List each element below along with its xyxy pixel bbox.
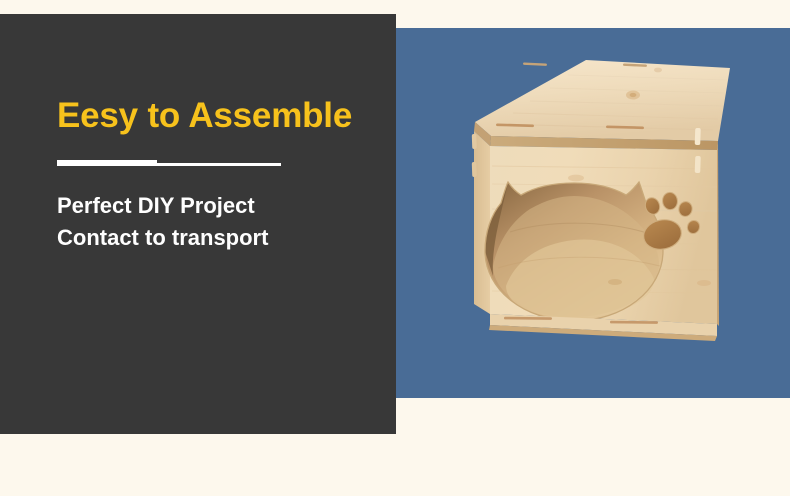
copy-block: Eesy to Assemble Perfect DIY Project Con… [57,98,387,254]
front-panel [485,146,717,341]
side-panel [474,131,490,314]
right-edge [717,141,719,326]
product-image [418,36,758,386]
subcopy-block: Perfect DIY Project Contact to transport [57,190,387,254]
right-image-panel [396,28,790,398]
subline-2: Contact to transport [57,222,387,254]
divider [57,160,387,168]
wooden-cat-house-illustration [418,36,758,386]
promo-banner: Eesy to Assemble Perfect DIY Project Con… [0,0,790,496]
divider-thin-segment [157,163,281,166]
page-title: Eesy to Assemble [57,98,387,135]
left-text-panel: Eesy to Assemble Perfect DIY Project Con… [0,14,396,434]
subline-1: Perfect DIY Project [57,190,387,222]
lid-panel [474,60,730,150]
divider-thick-segment [57,160,157,166]
